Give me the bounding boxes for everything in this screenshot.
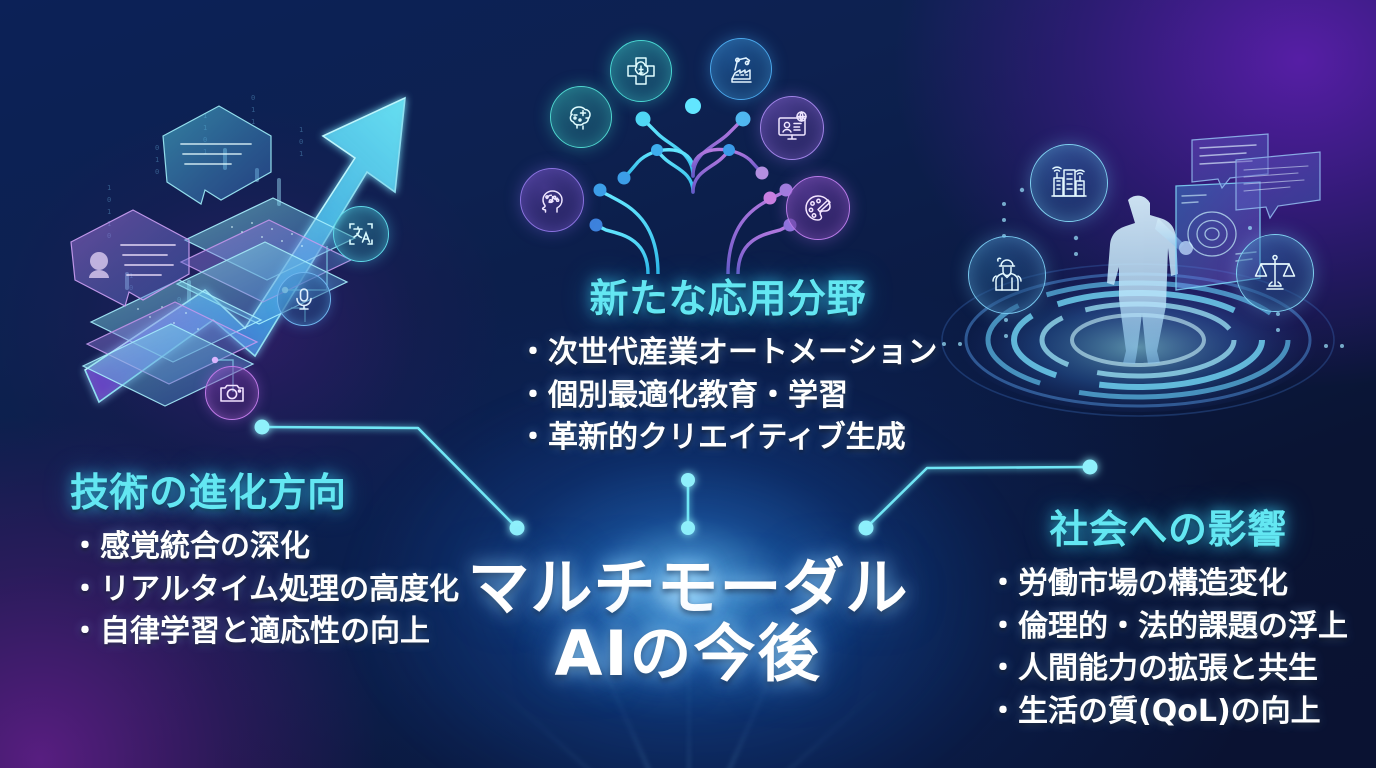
list-item: 革新的クリエイティブ生成 [518, 417, 937, 460]
translate-icon [333, 206, 389, 262]
connector-node [1083, 460, 1098, 475]
smart-city-icon [1030, 144, 1108, 222]
panel-tech: 技術の進化方向 感覚統合の深化 リアルタイム処理の高度化 自律学習と適応性の向上 [70, 462, 459, 654]
center-title-line2: AIの今後 [467, 621, 908, 687]
svg-text:0: 0 [251, 94, 255, 102]
list-item: 生活の質(QoL)の向上 [988, 691, 1348, 734]
center-illustration [498, 26, 888, 274]
panel-social-list: 労働市場の構造変化 倫理的・法的課題の浮上 人間能力の拡張と共生 生活の質(Qo… [988, 563, 1348, 733]
art-palette-icon [786, 176, 850, 240]
scales-of-justice-icon [1236, 234, 1314, 312]
robot-arm-factory-icon [710, 38, 772, 100]
center-title-line1: マルチモーダル [467, 555, 908, 621]
microphone-icon [277, 272, 331, 326]
panel-tech-heading: 技術の進化方向 [70, 462, 459, 518]
worker-icon [968, 236, 1046, 314]
panel-social-heading: 社会への影響 [988, 499, 1348, 555]
list-item: リアルタイム処理の高度化 [70, 569, 459, 612]
center-title: マルチモーダル AIの今後 [467, 555, 908, 686]
right-illustration [930, 108, 1356, 434]
list-item: 個別最適化教育・学習 [518, 375, 937, 418]
elearning-monitor-icon [760, 96, 824, 160]
panel-apps-list: 次世代産業オートメーション 個別最適化教育・学習 革新的クリエイティブ生成 [518, 332, 937, 460]
svg-text:1: 1 [299, 150, 303, 158]
svg-text:1: 1 [107, 208, 111, 216]
left-illustration: 101 10 010 110 1 011 101 10 01 [55, 40, 435, 440]
list-item: 労働市場の構造変化 [988, 563, 1348, 606]
panel-apps: 新たな応用分野 次世代産業オートメーション 個別最適化教育・学習 革新的クリエイ… [518, 268, 937, 460]
svg-text:1: 1 [299, 126, 303, 134]
list-item: 次世代産業オートメーション [518, 332, 937, 375]
svg-text:0: 0 [155, 168, 159, 176]
panel-social: 社会への影響 労働市場の構造変化 倫理的・法的課題の浮上 人間能力の拡張と共生 … [988, 499, 1348, 733]
camera-icon [205, 366, 259, 420]
infographic-canvas: 101 10 010 110 1 011 101 10 01 [0, 0, 1376, 768]
list-item: 人間能力の拡張と共生 [988, 648, 1348, 691]
svg-text:0: 0 [155, 144, 159, 152]
medical-brain-icon [610, 40, 672, 102]
head-circuit-icon [520, 168, 584, 232]
svg-text:0: 0 [107, 196, 111, 204]
svg-text:1: 1 [155, 156, 159, 164]
svg-text:1: 1 [251, 106, 255, 114]
list-item: 倫理的・法的課題の浮上 [988, 606, 1348, 649]
ai-brain-icon [550, 86, 612, 148]
panel-tech-list: 感覚統合の深化 リアルタイム処理の高度化 自律学習と適応性の向上 [70, 526, 459, 654]
list-item: 自律学習と適応性の向上 [70, 611, 459, 654]
list-item: 感覚統合の深化 [70, 526, 459, 569]
svg-text:1: 1 [107, 184, 111, 192]
svg-text:0: 0 [299, 138, 303, 146]
panel-apps-heading: 新たな応用分野 [518, 268, 937, 324]
